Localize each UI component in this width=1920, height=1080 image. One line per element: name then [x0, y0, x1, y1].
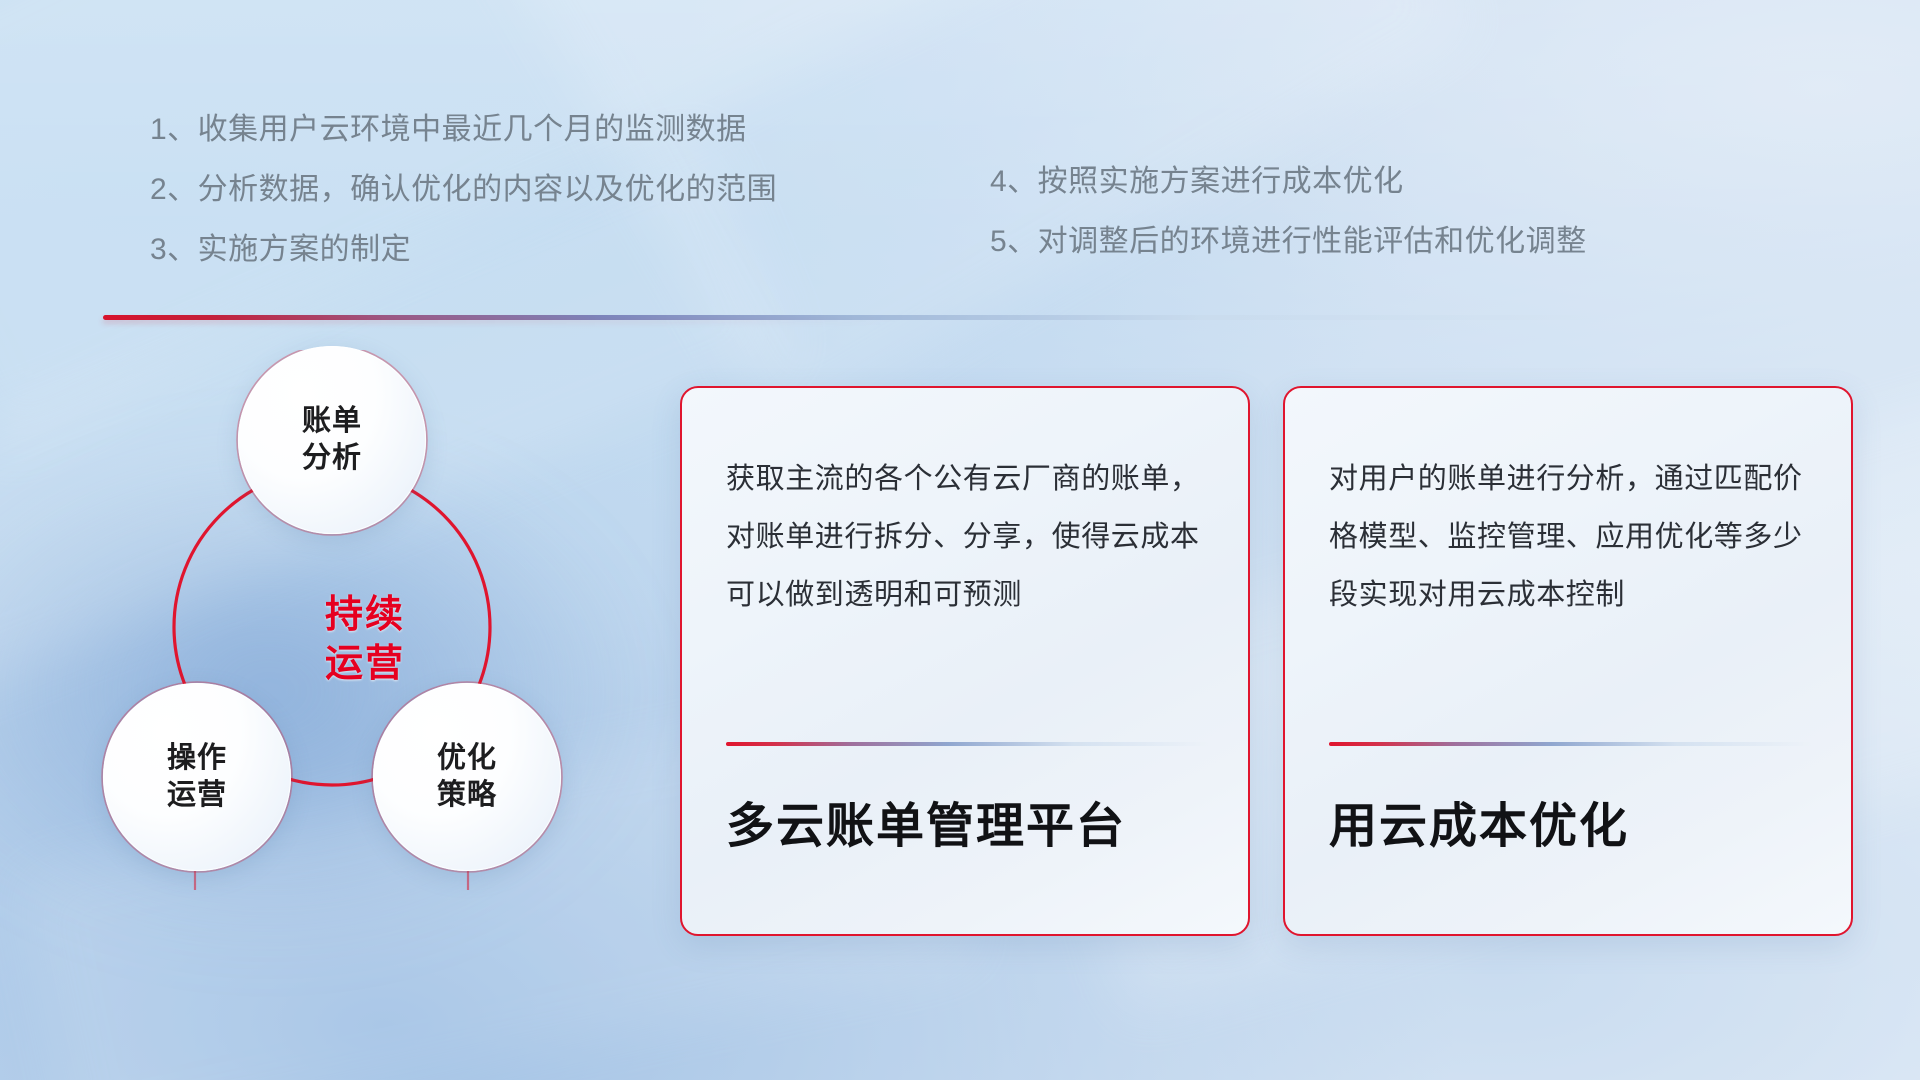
- bubble-label-line2: 分析: [302, 440, 362, 477]
- feature-card-cloud-cost-optimization[interactable]: 对用户的账单进行分析，通过匹配价格模型、监控管理、应用优化等多少段实现对用云成本…: [1283, 386, 1853, 936]
- card-title: 多云账单管理平台: [726, 786, 1126, 856]
- cycle-bubble-bill-analysis[interactable]: 账单 分析: [238, 346, 426, 534]
- bubble-label-line2: 运营: [167, 777, 227, 814]
- bubble-label-line1: 操作: [167, 740, 227, 777]
- step-item: 3、实施方案的制定: [150, 220, 777, 280]
- feature-card-multicloud-billing[interactable]: 获取主流的各个公有云厂商的账单，对账单进行拆分、分享，使得云成本可以做到透明和可…: [680, 386, 1250, 936]
- card-divider: [1329, 742, 1811, 746]
- steps-right-column: 4、按照实施方案进行成本优化 5、对调整后的环境进行性能评估和优化调整: [990, 152, 1587, 272]
- step-item: 5、对调整后的环境进行性能评估和优化调整: [990, 212, 1587, 272]
- cycle-bubble-optimization-strategy[interactable]: 优化 策略: [373, 683, 561, 871]
- cycle-center-label: 持续 运营: [270, 575, 460, 705]
- card-body-text: 获取主流的各个公有云厂商的账单，对账单进行拆分、分享，使得云成本可以做到透明和可…: [726, 450, 1204, 624]
- bubble-label-line2: 策略: [437, 777, 497, 814]
- cycle-diagram: 账单 分析 操作 运营 优化 策略 持续 运营: [95, 350, 635, 950]
- bubble-label-line1: 账单: [302, 403, 362, 440]
- cycle-center-label-line1: 持续: [325, 591, 405, 640]
- step-item: 4、按照实施方案进行成本优化: [990, 152, 1587, 212]
- step-item: 1、收集用户云环境中最近几个月的监测数据: [150, 100, 777, 160]
- cycle-center-label-line2: 运营: [325, 640, 405, 689]
- cycle-bubble-operations[interactable]: 操作 运营: [103, 683, 291, 871]
- steps-left-column: 1、收集用户云环境中最近几个月的监测数据 2、分析数据，确认优化的内容以及优化的…: [150, 100, 777, 280]
- bubble-label-line1: 优化: [437, 740, 497, 777]
- card-title: 用云成本优化: [1329, 786, 1629, 856]
- step-item: 2、分析数据，确认优化的内容以及优化的范围: [150, 160, 777, 220]
- card-divider: [726, 742, 1208, 746]
- card-body-text: 对用户的账单进行分析，通过匹配价格模型、监控管理、应用优化等多少段实现对用云成本…: [1329, 450, 1807, 624]
- section-divider: [103, 315, 1878, 320]
